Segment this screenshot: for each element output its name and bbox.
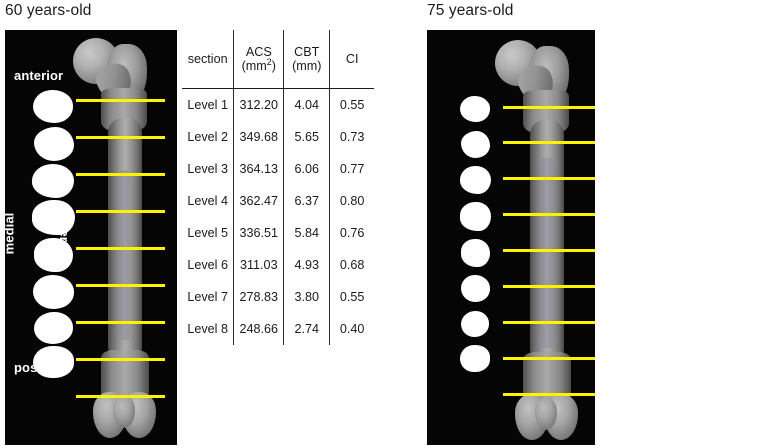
cell-section: Level 2 <box>182 121 234 153</box>
section-line-9 <box>76 395 165 398</box>
cell-section: Level 1 <box>182 89 234 122</box>
orientation-label-anterior: anterior <box>14 68 63 83</box>
column-header-cbt-label: CBT <box>294 45 319 59</box>
section-line-3 <box>503 177 595 180</box>
section-line-7 <box>503 321 595 324</box>
cell-cbt: 5.84 <box>284 217 330 249</box>
cell-section: Level 5 <box>182 217 234 249</box>
cell-acs: 312.20 <box>234 89 284 122</box>
table-header-row: section ACS (mm2) CBT (mm) CI <box>182 30 374 89</box>
cell-ci: 0.76 <box>330 217 374 249</box>
table-row: Level 4 362.47 6.37 0.80 <box>182 185 374 217</box>
cell-cbt: 4.93 <box>284 249 330 281</box>
section-line-6 <box>76 284 165 287</box>
section-line-1 <box>76 99 165 102</box>
section-line-6 <box>503 285 595 288</box>
column-header-cbt: CBT (mm) <box>284 30 330 89</box>
table-row: Level 3 364.13 6.06 0.77 <box>182 153 374 185</box>
cell-acs: 248.66 <box>234 313 284 345</box>
cell-cbt: 4.04 <box>284 89 330 122</box>
medullary-canal <box>536 158 558 348</box>
cell-section: Level 3 <box>182 153 234 185</box>
section-line-2 <box>76 136 165 139</box>
cell-ci: 0.55 <box>330 89 374 122</box>
bone-image-panel-60: anterior posterior medial lateral <box>5 30 177 445</box>
column-header-ci: CI <box>330 30 374 89</box>
cell-cbt: 6.06 <box>284 153 330 185</box>
figure-root: 60 years-old anterior posterior medial l… <box>0 0 758 448</box>
cell-section: Level 4 <box>182 185 234 217</box>
column-header-acs: ACS (mm2) <box>234 30 284 89</box>
cell-acs: 362.47 <box>234 185 284 217</box>
table-row: Level 5 336.51 5.84 0.76 <box>182 217 374 249</box>
measurements-table-60: section ACS (mm2) CBT (mm) CI <box>182 30 374 345</box>
cell-cbt: 3.80 <box>284 281 330 313</box>
column-header-cbt-unit: (mm) <box>284 59 329 73</box>
cell-section: Level 8 <box>182 313 234 345</box>
orientation-label-medial: medial <box>5 213 16 255</box>
panel-title-60: 60 years-old <box>5 2 92 20</box>
cell-ci: 0.68 <box>330 249 374 281</box>
section-line-3 <box>76 173 165 176</box>
cell-ci: 0.40 <box>330 313 374 345</box>
cell-section: Level 7 <box>182 281 234 313</box>
cell-cbt: 2.74 <box>284 313 330 345</box>
section-line-8 <box>76 358 165 361</box>
table-header-60: section ACS (mm2) CBT (mm) CI <box>182 30 374 89</box>
section-line-5 <box>503 249 595 252</box>
column-header-section: section <box>182 30 234 89</box>
table-row: Level 2 349.68 5.65 0.73 <box>182 121 374 153</box>
cell-acs: 278.83 <box>234 281 284 313</box>
cell-acs: 336.51 <box>234 217 284 249</box>
section-line-2 <box>503 141 595 144</box>
table-row: Level 1 312.20 4.04 0.55 <box>182 89 374 122</box>
cell-acs: 311.03 <box>234 249 284 281</box>
femur-3d-render-60 <box>63 30 177 445</box>
cell-ci: 0.55 <box>330 281 374 313</box>
section-line-4 <box>503 213 595 216</box>
section-line-4 <box>76 210 165 213</box>
section-line-1 <box>503 106 595 109</box>
column-header-acs-unit: (mm2) <box>234 59 283 73</box>
measurements-table-wrapper-60: section ACS (mm2) CBT (mm) CI <box>182 30 374 345</box>
panel-group-75: 75 years-old <box>379 0 758 448</box>
cell-acs: 364.13 <box>234 153 284 185</box>
cell-ci: 0.77 <box>330 153 374 185</box>
cell-ci: 0.80 <box>330 185 374 217</box>
medullary-canal <box>116 170 133 340</box>
table-row: Level 8 248.66 2.74 0.40 <box>182 313 374 345</box>
cell-section: Level 6 <box>182 249 234 281</box>
section-line-8 <box>503 357 595 360</box>
panel-title-75: 75 years-old <box>427 2 514 20</box>
cell-cbt: 5.65 <box>284 121 330 153</box>
table-row: Level 7 278.83 3.80 0.55 <box>182 281 374 313</box>
table-row: Level 6 311.03 4.93 0.68 <box>182 249 374 281</box>
cell-cbt: 6.37 <box>284 185 330 217</box>
section-line-5 <box>76 247 165 250</box>
table-body-60: Level 1 312.20 4.04 0.55 Level 2 349.68 … <box>182 89 374 346</box>
bone-image-panel-75 <box>427 30 595 445</box>
section-line-9 <box>503 393 595 396</box>
femur-3d-render-75 <box>483 30 595 445</box>
cell-acs: 349.68 <box>234 121 284 153</box>
panel-group-60: 60 years-old anterior posterior medial l… <box>0 0 379 448</box>
cell-ci: 0.73 <box>330 121 374 153</box>
section-line-7 <box>76 321 165 324</box>
